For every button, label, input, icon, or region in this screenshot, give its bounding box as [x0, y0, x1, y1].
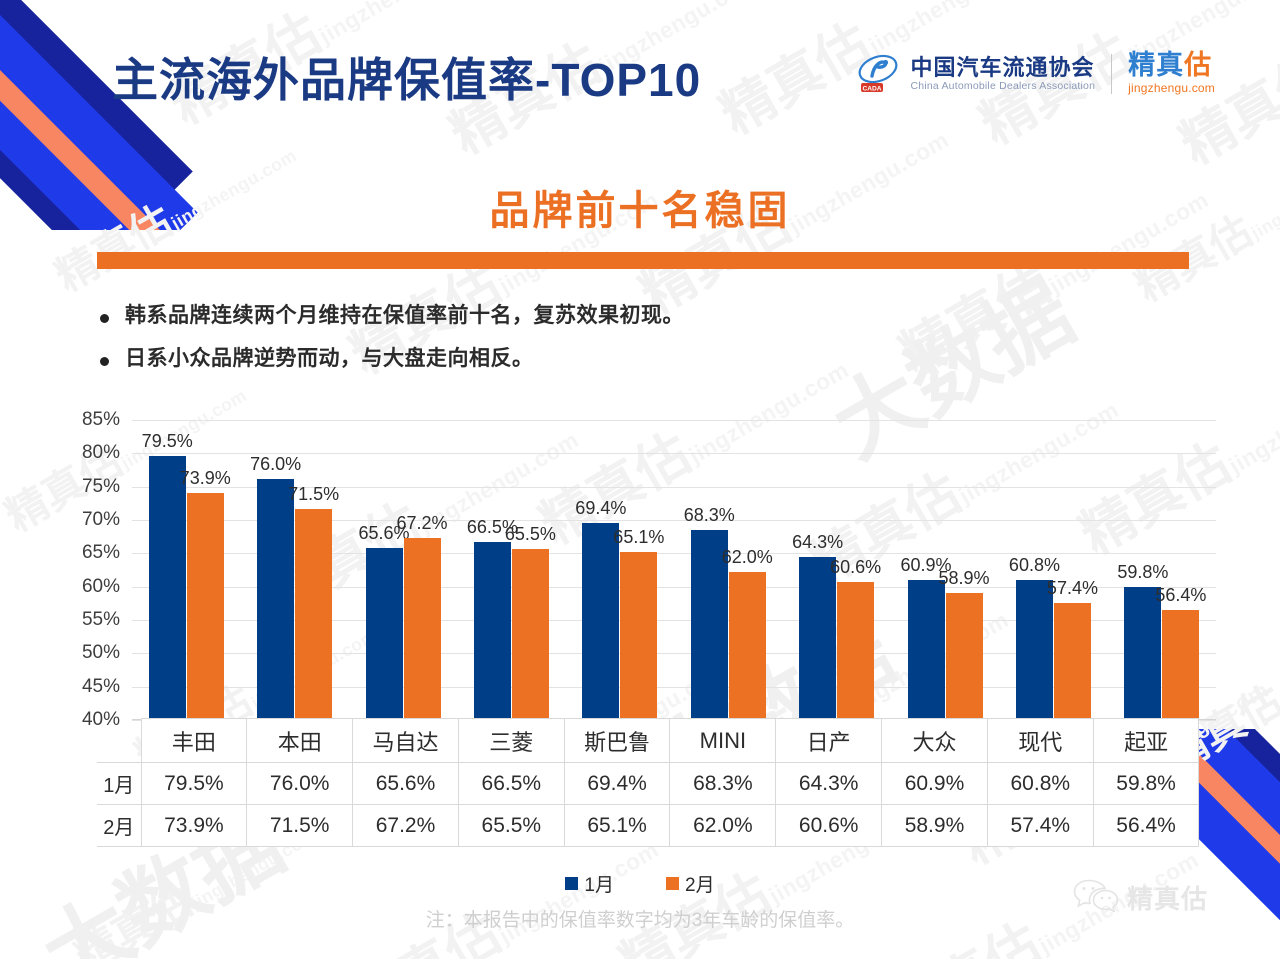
bar-value-label: 67.2%	[396, 513, 447, 534]
bar-group: 76.0%71.5%	[240, 419, 348, 719]
jzg-name-orange: 估	[1184, 50, 1212, 80]
table-data-cell: 67.2%	[353, 805, 459, 847]
table-data-cell: 56.4%	[1093, 805, 1199, 847]
data-table: 丰田本田马自达三菱斯巴鲁MINI日产大众现代起亚1月79.5%76.0%65.6…	[97, 718, 1199, 847]
y-axis-tick: 45%	[82, 676, 120, 698]
bullet-item-2: 日系小众品牌逆势而动，与大盘走向相反。	[100, 346, 684, 371]
table-data-cell: 59.8%	[1093, 763, 1199, 805]
cada-badge-text: CADA	[862, 85, 881, 92]
bar-value-label: 64.3%	[792, 532, 843, 553]
footnote: 注：本报告中的保值率数字均为3年车龄的保值率。	[0, 905, 1280, 932]
table-data-cell: 79.5%	[141, 763, 247, 805]
y-axis-tick: 65%	[82, 542, 120, 564]
bar-value-label: 68.3%	[684, 505, 735, 526]
chart-legend: 1月2月	[0, 870, 1280, 897]
table-data-cell: 71.5%	[247, 805, 353, 847]
table-data-cell: 64.3%	[776, 763, 882, 805]
bar-group: 66.5%65.5%	[457, 419, 565, 719]
bar-三菱-1月[interactable]: 66.5%	[474, 542, 511, 719]
page-title: 主流海外品牌保值率-TOP10	[112, 44, 701, 110]
bullet-dot-icon	[100, 357, 109, 366]
bar-chart: 85%80%75%70%65%60%55%50%45%40% 79.5%73.9…	[66, 420, 1216, 720]
y-axis-tick: 55%	[82, 609, 120, 631]
bar-丰田-2月[interactable]: 73.9%	[187, 493, 224, 719]
table-data-cell: 62.0%	[670, 805, 776, 847]
y-axis-tick: 85%	[82, 409, 120, 431]
bar-三菱-2月[interactable]: 65.5%	[512, 549, 549, 719]
legend-swatch	[666, 877, 679, 890]
y-axis-tick: 75%	[82, 476, 120, 498]
bar-value-label: 73.9%	[180, 468, 231, 489]
bar-value-label: 60.6%	[830, 557, 881, 578]
table-row-header: 1月	[97, 763, 141, 805]
bar-value-label: 71.5%	[288, 484, 339, 505]
table-header-cell: 马自达	[353, 719, 459, 763]
table-data-cell: 60.9%	[882, 763, 988, 805]
table-data-cell: 60.6%	[776, 805, 882, 847]
bar-group: 59.8%56.4%	[1108, 419, 1216, 719]
slide-subtitle: 品牌前十名稳固	[0, 178, 1280, 236]
table-data-cell: 76.0%	[247, 763, 353, 805]
table-data-cell: 65.5%	[458, 805, 564, 847]
legend-label: 2月	[685, 870, 715, 897]
table-row-header: 2月	[97, 805, 141, 847]
bar-本田-2月[interactable]: 71.5%	[295, 509, 332, 719]
bar-大众-1月[interactable]: 60.9%	[908, 580, 945, 719]
bar-value-label: 79.5%	[142, 431, 193, 452]
bar-group: 79.5%73.9%	[132, 419, 240, 719]
y-axis-tick: 60%	[82, 576, 120, 598]
orange-divider-bar	[97, 252, 1189, 269]
bar-现代-2月[interactable]: 57.4%	[1054, 603, 1091, 719]
table-data-cell: 66.5%	[458, 763, 564, 805]
bar-value-label: 59.8%	[1117, 562, 1168, 583]
cada-logo: CADA 中国汽车流通协会 China Automobile Dealers A…	[858, 54, 1096, 94]
logo-group: CADA 中国汽车流通协会 China Automobile Dealers A…	[858, 52, 1216, 95]
table-header-cell: 起亚	[1093, 719, 1199, 763]
table-data-cell: 68.3%	[670, 763, 776, 805]
bar-value-label: 57.4%	[1047, 578, 1098, 599]
bar-现代-1月[interactable]: 60.8%	[1016, 580, 1053, 719]
table-header-cell: 三菱	[458, 719, 564, 763]
bar-斯巴鲁-1月[interactable]: 69.4%	[582, 523, 619, 719]
bar-group: 68.3%62.0%	[674, 419, 782, 719]
table-header-cell: 大众	[882, 719, 988, 763]
bar-group: 60.8%57.4%	[999, 419, 1107, 719]
y-axis-tick: 70%	[82, 509, 120, 531]
bar-斯巴鲁-2月[interactable]: 65.1%	[620, 552, 657, 719]
legend-label: 1月	[584, 870, 614, 897]
table-row-categories: 丰田本田马自达三菱斯巴鲁MINI日产大众现代起亚	[97, 719, 1199, 763]
table-header-cell: 本田	[247, 719, 353, 763]
table-data-cell: 69.4%	[564, 763, 670, 805]
bar-本田-1月[interactable]: 76.0%	[257, 479, 294, 719]
bar-起亚-1月[interactable]: 59.8%	[1124, 587, 1161, 719]
bullet-item-1: 韩系品牌连续两个月维持在保值率前十名，复苏效果初现。	[100, 303, 684, 328]
bar-value-label: 58.9%	[939, 568, 990, 589]
bar-group: 64.3%60.6%	[782, 419, 890, 719]
bar-group: 69.4%65.1%	[566, 419, 674, 719]
y-axis-tick: 80%	[82, 442, 120, 464]
table-header-cell: MINI	[670, 719, 776, 763]
plot-area: 79.5%73.9%76.0%71.5%65.6%67.2%66.5%65.5%…	[132, 420, 1216, 720]
bullet-text: 日系小众品牌逆势而动，与大盘走向相反。	[125, 346, 534, 371]
table-row: 1月79.5%76.0%65.6%66.5%69.4%68.3%64.3%60.…	[97, 763, 1199, 805]
table-data-cell: 58.9%	[882, 805, 988, 847]
y-axis-tick: 50%	[82, 642, 120, 664]
bullet-dot-icon	[100, 314, 109, 323]
table-data-cell: 65.1%	[564, 805, 670, 847]
bar-value-label: 69.4%	[575, 498, 626, 519]
bar-value-label: 65.1%	[613, 527, 664, 548]
cada-swirl-logo-icon: CADA	[858, 54, 902, 94]
bar-value-label: 65.5%	[505, 524, 556, 545]
y-axis-labels: 85%80%75%70%65%60%55%50%45%40%	[66, 420, 128, 720]
legend-item-2月[interactable]: 2月	[666, 870, 715, 897]
bullet-list: 韩系品牌连续两个月维持在保值率前十名，复苏效果初现。日系小众品牌逆势而动，与大盘…	[100, 303, 684, 389]
legend-item-1月[interactable]: 1月	[565, 870, 614, 897]
table-header-cell: 日产	[776, 719, 882, 763]
bar-value-label: 56.4%	[1155, 585, 1206, 606]
bar-马自达-2月[interactable]: 67.2%	[404, 538, 441, 719]
bar-日产-2月[interactable]: 60.6%	[837, 582, 874, 719]
table-data-cell: 65.6%	[353, 763, 459, 805]
bar-大众-2月[interactable]: 58.9%	[946, 593, 983, 719]
bar-value-label: 62.0%	[722, 547, 773, 568]
table-data-cell: 60.8%	[987, 763, 1093, 805]
bullet-text: 韩系品牌连续两个月维持在保值率前十名，复苏效果初现。	[125, 303, 684, 328]
bar-value-label: 76.0%	[250, 454, 301, 475]
bar-group: 60.9%58.9%	[891, 419, 999, 719]
table-corner-cell	[97, 719, 141, 763]
bar-groups: 79.5%73.9%76.0%71.5%65.6%67.2%66.5%65.5%…	[132, 419, 1216, 719]
table-header-cell: 丰田	[141, 719, 247, 763]
bar-丰田-1月[interactable]: 79.5%	[149, 456, 186, 719]
bar-马自达-1月[interactable]: 65.6%	[366, 548, 403, 719]
logo-divider	[1111, 54, 1112, 94]
jzg-domain: jingzhengu.com	[1128, 81, 1215, 95]
cada-name-en: China Automobile Dealers Association	[911, 80, 1096, 92]
jingzhengu-logo: 精真估 jingzhengu.com	[1128, 52, 1215, 95]
table-data-cell: 57.4%	[987, 805, 1093, 847]
bar-value-label: 60.8%	[1009, 555, 1060, 576]
bar-MINI-2月[interactable]: 62.0%	[729, 572, 766, 719]
bar-起亚-2月[interactable]: 56.4%	[1162, 610, 1199, 719]
table-header-cell: 斯巴鲁	[564, 719, 670, 763]
table-header-cell: 现代	[987, 719, 1093, 763]
table-data-cell: 73.9%	[141, 805, 247, 847]
table-row: 2月73.9%71.5%67.2%65.5%65.1%62.0%60.6%58.…	[97, 805, 1199, 847]
bar-日产-1月[interactable]: 64.3%	[799, 557, 836, 719]
legend-swatch	[565, 877, 578, 890]
jzg-name-blue: 精真	[1128, 50, 1184, 80]
slide-root: 精真估jingzhengu.com精真估jingzhengu.com精真估jin…	[0, 0, 1280, 959]
bar-group: 65.6%67.2%	[349, 419, 457, 719]
cada-name-cn: 中国汽车流通协会	[911, 55, 1096, 80]
